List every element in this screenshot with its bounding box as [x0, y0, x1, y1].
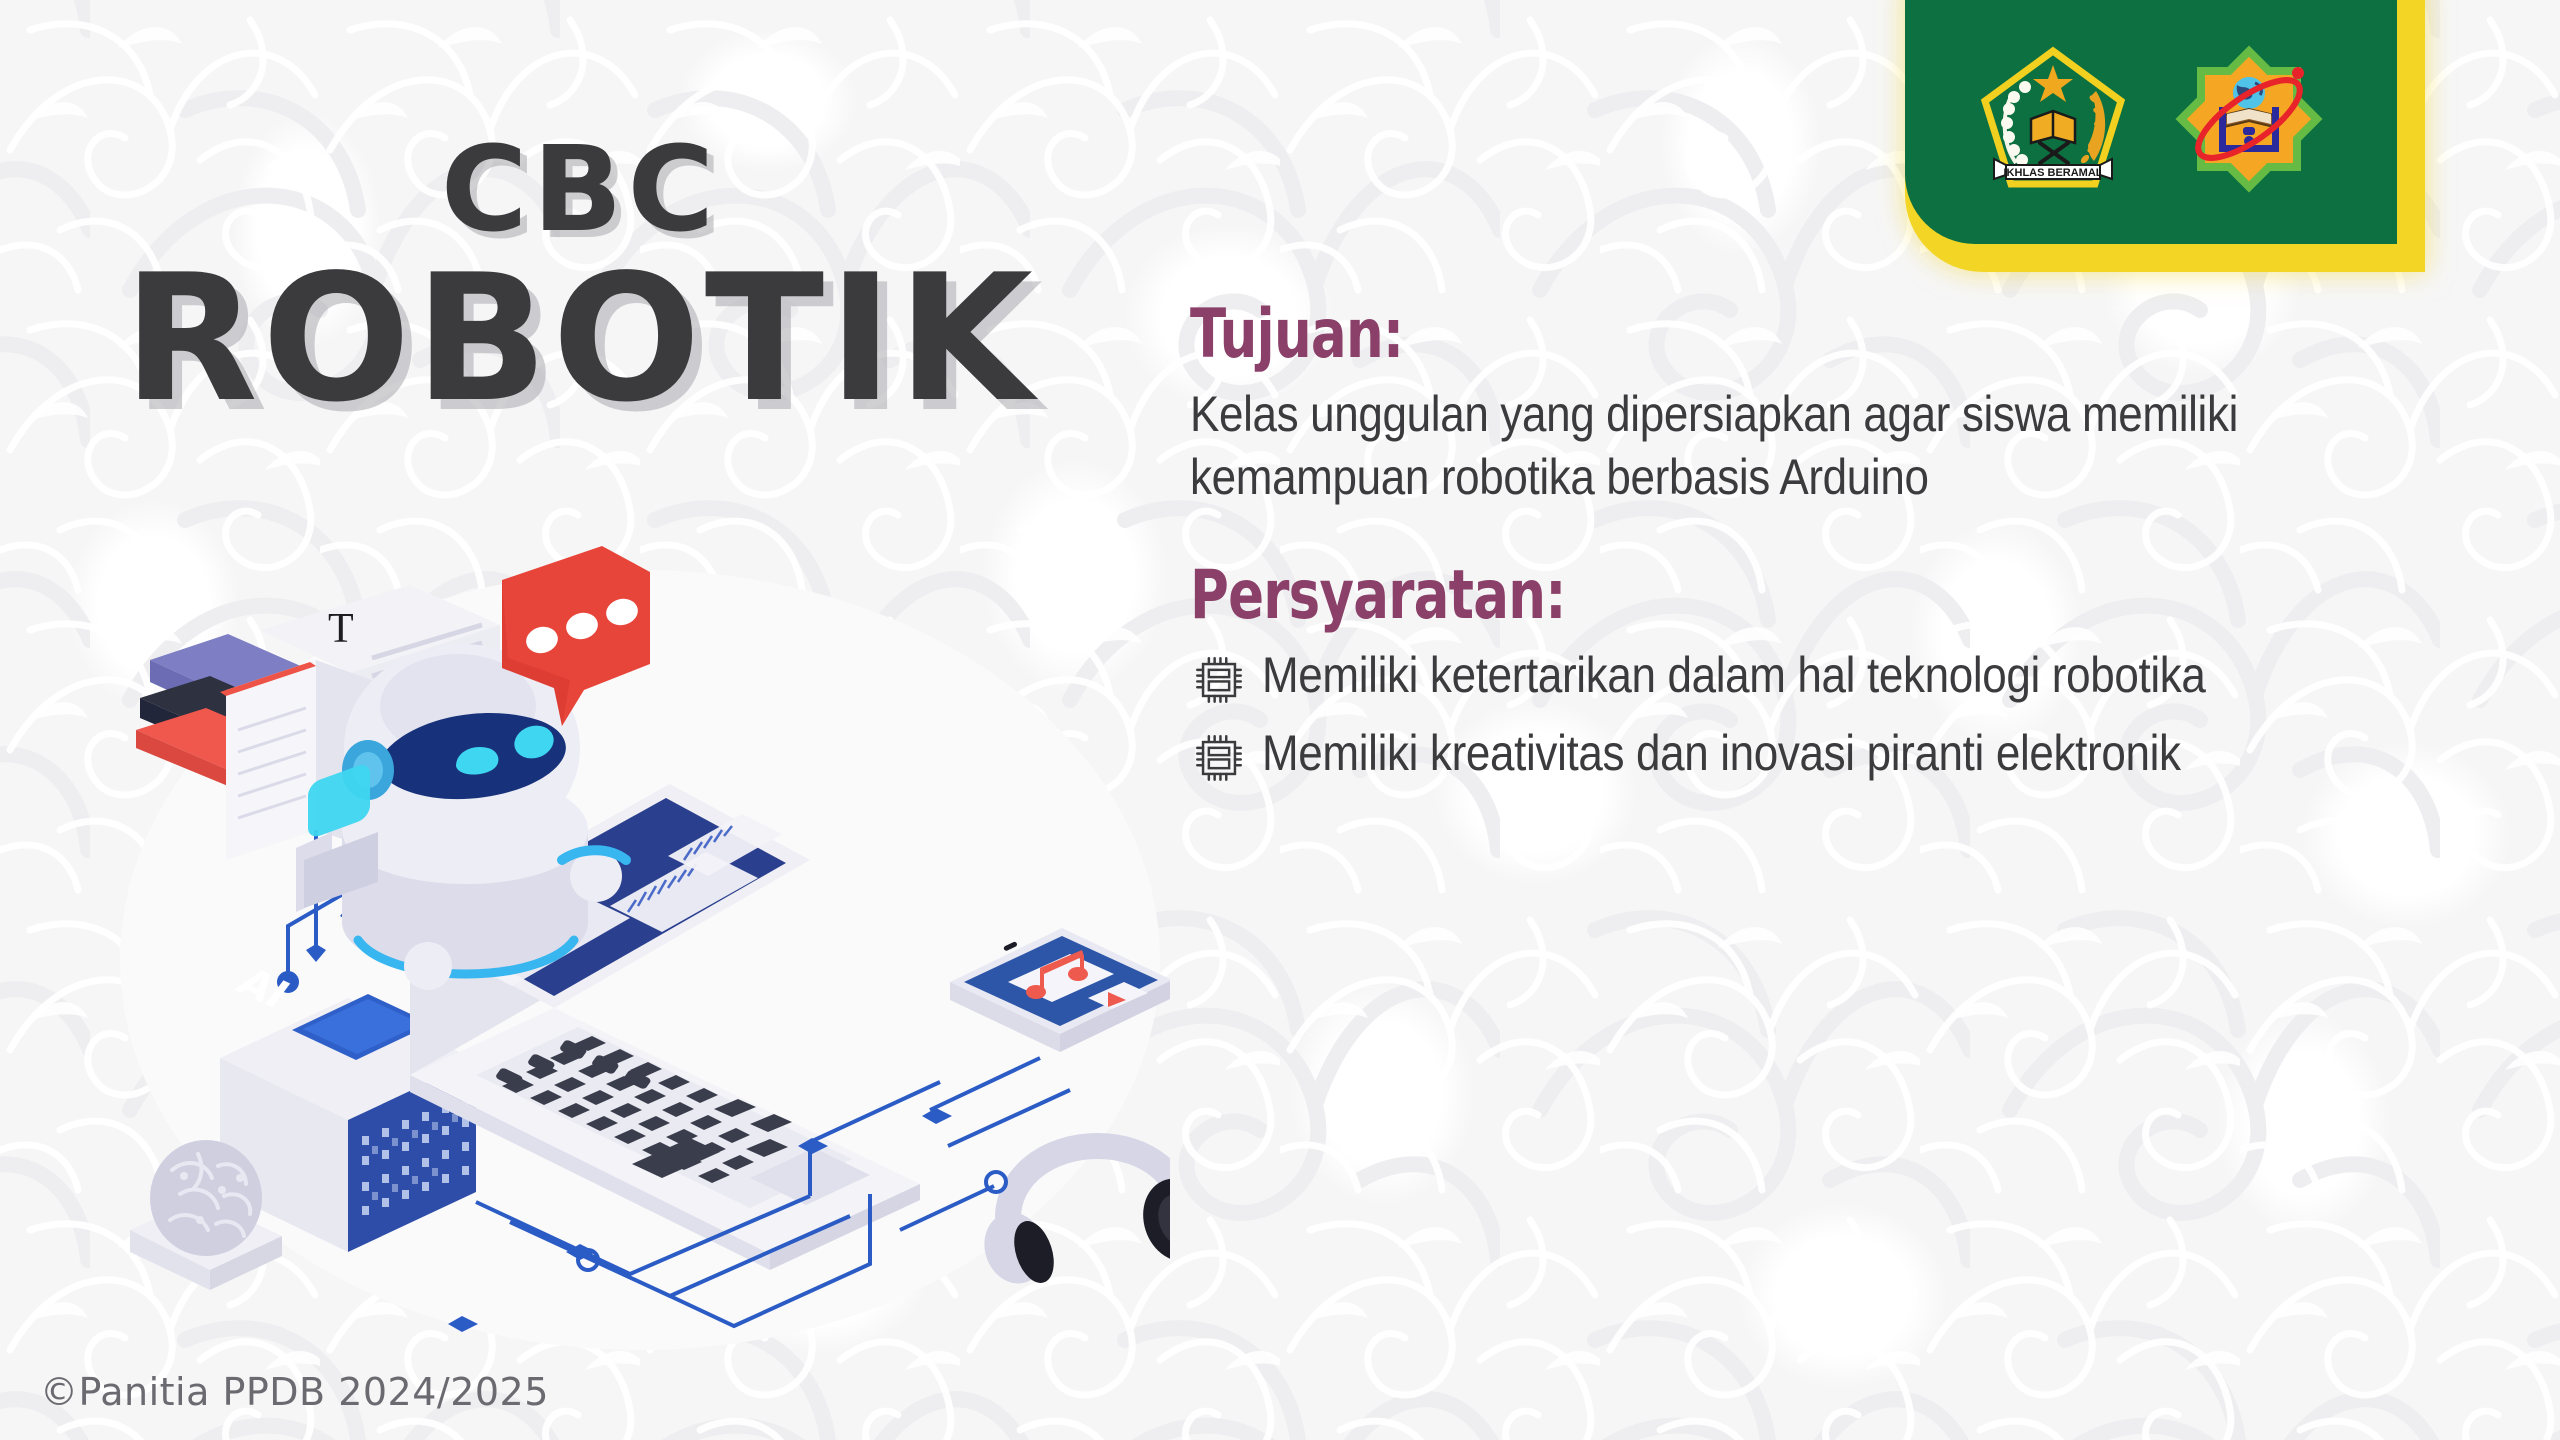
book-letter-label: T [328, 606, 354, 652]
list-item-label: Memiliki kreativitas dan inovasi piranti… [1262, 723, 2181, 784]
microchip-icon [1190, 651, 1248, 709]
list-item: Memiliki ketertarikan dalam hal teknolog… [1190, 645, 2520, 709]
list-item-label: Memiliki ketertarikan dalam hal teknolog… [1262, 645, 2206, 706]
persyaratan-heading: Persyaratan: [1190, 561, 2227, 630]
tujuan-heading: Tujuan: [1190, 300, 2227, 369]
content-column: Tujuan: Kelas unggulan yang dipersiapkan… [1190, 300, 2520, 801]
poster-title: CBC ROBOTIK [0, 130, 1160, 427]
madrasah-logo [2174, 39, 2324, 199]
tujuan-body: Kelas unggulan yang dipersiapkan agar si… [1190, 383, 2360, 509]
title-line-cbc: CBC [0, 130, 1160, 248]
logo-panel-green: IKHLAS BERAMAL [1905, 0, 2397, 244]
robotics-illustration: T [110, 530, 1170, 1350]
title-line-robotik: ROBOTIK [0, 252, 1160, 427]
credit-text: ©Panitia PPDB 2024/2025 [40, 1370, 549, 1414]
section-spacer [1190, 509, 2520, 561]
logo-panel: IKHLAS BERAMAL [1905, 0, 2425, 272]
microchip-icon [1190, 729, 1248, 787]
kemenag-logo: IKHLAS BERAMAL [1978, 39, 2128, 199]
list-item: Memiliki kreativitas dan inovasi piranti… [1190, 723, 2520, 787]
persyaratan-list: Memiliki ketertarikan dalam hal teknolog… [1190, 645, 2520, 787]
kemenag-motto-text: IKHLAS BERAMAL [2004, 167, 2103, 179]
poster-canvas: IKHLAS BERAMAL [0, 0, 2560, 1440]
